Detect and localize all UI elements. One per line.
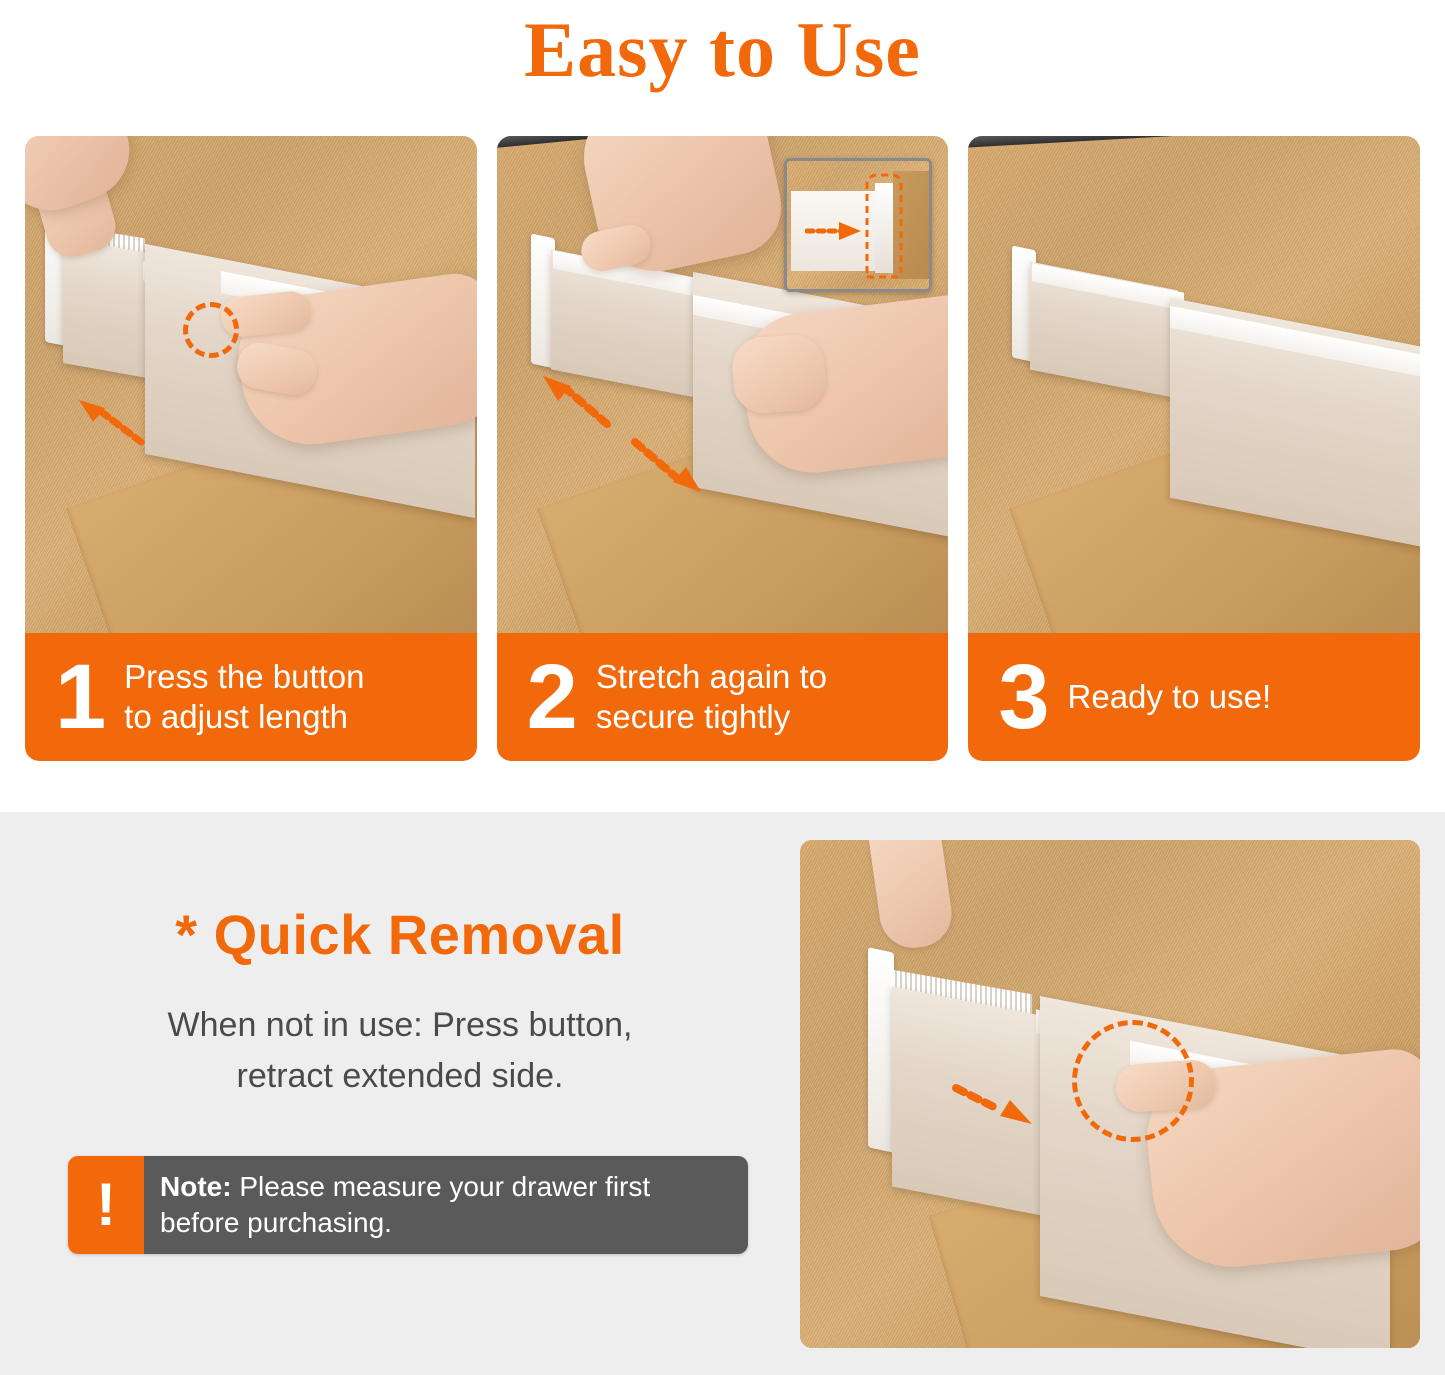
quick-removal-section: * Quick Removal When not in use: Press b… [0,812,1445,1375]
quick-removal-title: * Quick Removal [70,904,730,966]
dashed-arrow-up-left-icon [539,374,611,430]
step-3-caption: 3 Ready to use! [968,633,1420,761]
step-card-2: 2 Stretch again to secure tightly [497,136,949,761]
quick-removal-body-line1: When not in use: Press button, [70,1000,730,1051]
step-1-text-line1: Press the button [124,657,364,697]
inset-arrow-right-icon [805,219,867,243]
quick-removal-body-line2: retract extended side. [70,1051,730,1102]
button-highlight-circle [1072,1020,1194,1142]
step-card-3: 3 Ready to use! [968,136,1420,761]
quick-removal-text-block: * Quick Removal When not in use: Press b… [70,904,730,1102]
step-2-number: 2 [527,656,578,739]
step-2-text-line2: secure tightly [596,697,827,737]
detail-inset [784,158,932,292]
step-1-number: 1 [55,656,106,739]
step-2-caption: 2 Stretch again to secure tightly [497,633,949,761]
steps-row: 1 Press the button to adjust length [25,136,1420,761]
page-header: Easy to Use [0,0,1445,100]
step-1-text: Press the button to adjust length [124,657,364,738]
step-2-photo [497,136,949,633]
note-body: Note: Please measure your drawer first b… [144,1156,748,1254]
note-prefix: Note: [160,1171,232,1202]
exclamation-icon: ! [68,1156,144,1254]
step-1-photo [25,136,477,633]
note-text: Note: Please measure your drawer first b… [160,1169,732,1241]
page-title: Easy to Use [524,11,921,89]
step-card-1: 1 Press the button to adjust length [25,136,477,761]
quick-removal-photo [800,840,1420,1348]
dashed-arrow-down-right-icon [629,436,707,496]
divider-left-end [868,947,894,1153]
right-hand-fingers [730,333,827,415]
note-message: Please measure your drawer first before … [160,1171,650,1238]
step-2-text-line1: Stretch again to [596,657,827,697]
divider-inner-rail [63,238,153,379]
note-banner: ! Note: Please measure your drawer first… [68,1156,748,1254]
step-3-photo [968,136,1420,633]
step-3-text: Ready to use! [1068,677,1272,717]
step-3-text-line1: Ready to use! [1068,677,1272,717]
step-1-text-line2: to adjust length [124,697,364,737]
dashed-arrow-right-icon [952,1082,1038,1128]
step-1-caption: 1 Press the button to adjust length [25,633,477,761]
button-highlight-circle [183,302,239,358]
step-3-number: 3 [998,656,1049,739]
quick-removal-body: When not in use: Press button, retract e… [70,1000,730,1102]
step-2-text: Stretch again to secure tightly [596,657,827,738]
dashed-arrow-left-icon [75,398,145,448]
